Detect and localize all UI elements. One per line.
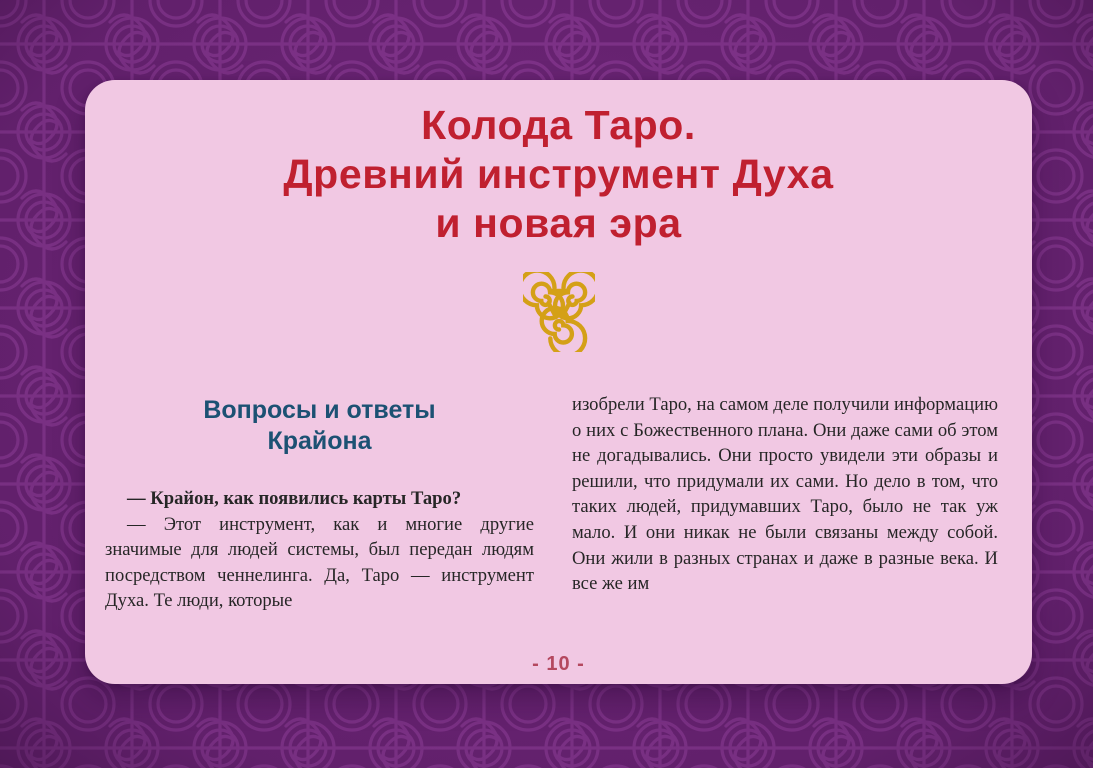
title-line-2: Древний инструмент Духа: [85, 150, 1032, 199]
title-line-3: и новая эра: [85, 199, 1032, 248]
left-column: Вопросы и ответы Крайона — Крайон, как п…: [85, 392, 558, 622]
section-heading-line-2: Крайона: [105, 426, 534, 457]
section-heading: Вопросы и ответы Крайона: [105, 392, 534, 457]
qa-answer: — Этот инструмент, как и многие другие з…: [105, 512, 534, 614]
two-column-text-area: Вопросы и ответы Крайона — Крайон, как п…: [85, 392, 1032, 622]
section-heading-line-1: Вопросы и ответы: [105, 395, 534, 426]
right-column-paragraph: изобрели Таро, на самом деле получили ин…: [572, 392, 998, 597]
right-column: изобрели Таро, на самом деле получили ин…: [558, 392, 1032, 622]
page-title: Колода Таро. Древний инструмент Духа и н…: [85, 80, 1032, 248]
triple-spiral-triskele-icon: [523, 272, 595, 352]
title-line-1: Колода Таро.: [85, 101, 1032, 150]
page-number: - 10 -: [85, 653, 1032, 676]
book-page-card: Колода Таро. Древний инструмент Духа и н…: [85, 80, 1032, 684]
qa-question: — Крайон, как появились карты Таро?: [105, 486, 534, 512]
